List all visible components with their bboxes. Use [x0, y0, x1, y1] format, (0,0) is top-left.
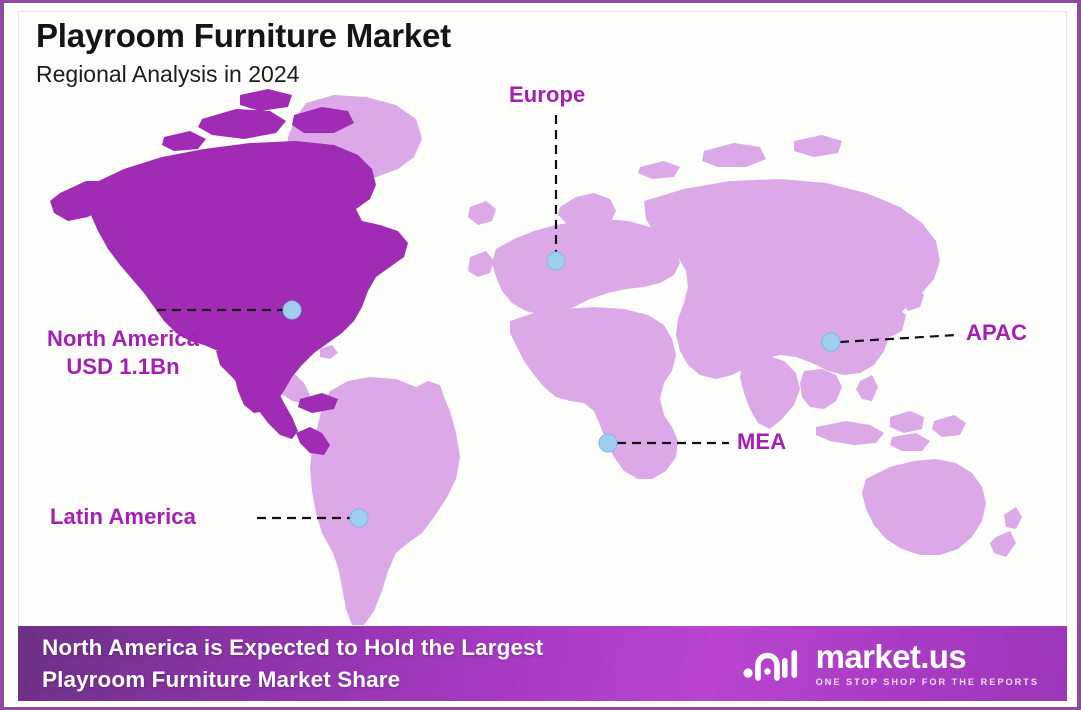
region-arctic-islands: [638, 135, 842, 179]
region-iceland: [468, 201, 496, 225]
region-label-mea-name: MEA: [737, 429, 786, 454]
region-southeast-asia: [800, 369, 842, 409]
infographic-root: Playroom Furniture Market Regional Analy…: [0, 0, 1081, 710]
bottom-banner: North America is Expected to Hold the La…: [18, 626, 1067, 701]
region-label-north-america[interactable]: North America USD 1.1Bn: [28, 325, 218, 381]
region-asia: [644, 179, 940, 379]
region-india: [740, 355, 800, 429]
page-title: Playroom Furniture Market: [36, 17, 451, 55]
region-value-north-america: USD 1.1Bn: [28, 353, 218, 381]
region-label-apac-name: APAC: [966, 320, 1027, 345]
page-subtitle: Regional Analysis in 2024: [36, 61, 451, 89]
banner-headline: North America is Expected to Hold the La…: [42, 632, 543, 694]
region-south-america: [310, 377, 460, 625]
logo-wordmark: market.us: [816, 640, 967, 673]
region-label-europe[interactable]: Europe: [509, 81, 585, 109]
region-indonesia: [816, 411, 966, 451]
region-label-latin-america[interactable]: Latin America: [50, 503, 196, 531]
region-label-europe-name: Europe: [509, 82, 585, 107]
banner-headline-line2: Playroom Furniture Market Share: [42, 664, 543, 695]
logo-tagline: ONE STOP SHOP FOR THE REPORTS: [816, 677, 1039, 687]
region-europe: [468, 219, 680, 315]
market-us-logo[interactable]: market.us ONE STOP SHOP FOR THE REPORTS: [742, 640, 1045, 687]
header: Playroom Furniture Market Regional Analy…: [36, 17, 451, 89]
region-label-apac[interactable]: APAC: [966, 319, 1027, 347]
banner-headline-line1: North America is Expected to Hold the La…: [42, 632, 543, 663]
region-new-zealand: [990, 507, 1022, 557]
market-us-logo-mark-icon: [742, 642, 804, 686]
region-label-mea[interactable]: MEA: [737, 428, 786, 456]
region-africa: [510, 307, 678, 479]
map-regions-other: [260, 95, 1022, 625]
region-label-latin-america-name: Latin America: [50, 504, 196, 529]
region-label-north-america-name: North America: [47, 326, 199, 351]
market-us-logo-text: market.us ONE STOP SHOP FOR THE REPORTS: [816, 640, 1039, 687]
region-australia: [862, 459, 986, 555]
